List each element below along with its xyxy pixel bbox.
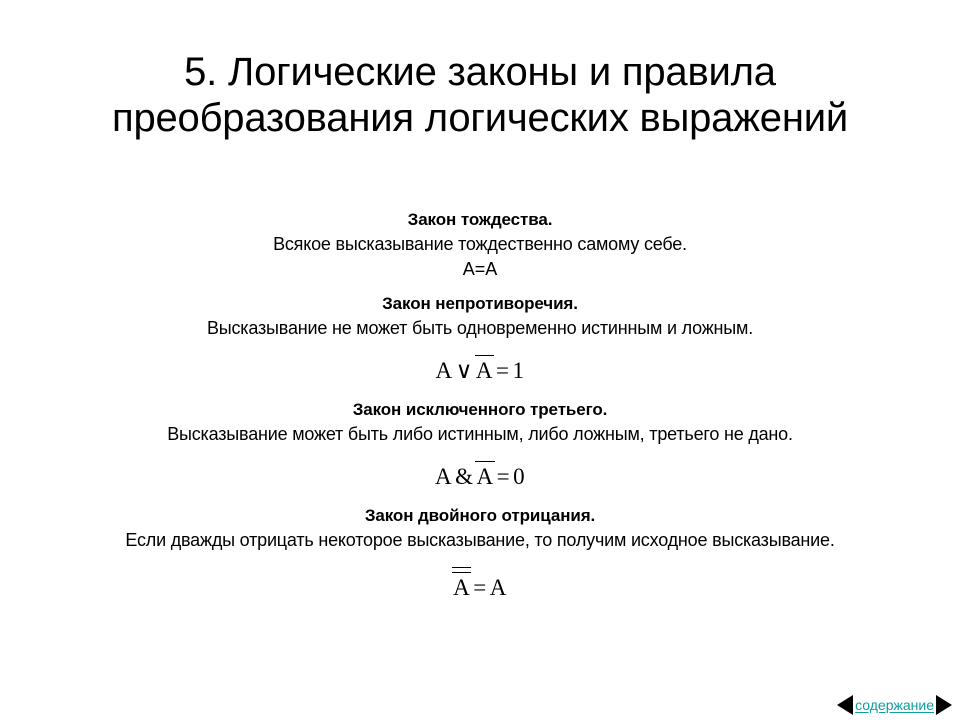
formula-equals: = bbox=[470, 575, 489, 600]
previous-slide-triangle-icon[interactable] bbox=[837, 695, 853, 715]
formula-equals: = bbox=[494, 464, 513, 489]
formula-left-operand: A bbox=[435, 358, 452, 383]
law-formula-identity: A=A bbox=[30, 257, 930, 282]
laws-list: Закон тождества. Всякое высказывание тож… bbox=[30, 208, 930, 615]
law-block-double-negation: Закон двойного отрицания. Если дважды от… bbox=[30, 504, 930, 603]
law-heading: Закон непротиворечия. bbox=[30, 292, 930, 316]
law-formula-excluded-middle: A&A=0 bbox=[30, 461, 930, 492]
formula-operator: & bbox=[452, 464, 476, 489]
formula-result: A bbox=[490, 575, 507, 600]
law-heading: Закон исключенного третьего. bbox=[30, 398, 930, 422]
formula-result: 0 bbox=[513, 464, 525, 489]
law-heading: Закон двойного отрицания. bbox=[30, 504, 930, 528]
page-title: 5. Логические законы и правила преобразо… bbox=[60, 49, 900, 141]
law-block-non-contradiction: Закон непротиворечия. Высказывание не мо… bbox=[30, 292, 930, 386]
contents-link[interactable]: содержание bbox=[853, 697, 936, 713]
law-formula-non-contradiction: A∨A=1 bbox=[30, 355, 930, 386]
formula-operator: ∨ bbox=[453, 358, 476, 383]
law-heading: Закон тождества. bbox=[30, 208, 930, 232]
law-block-excluded-middle: Закон исключенного третьего. Высказывани… bbox=[30, 398, 930, 492]
law-description: Высказывание может быть либо истинным, л… bbox=[30, 422, 930, 447]
law-block-identity: Закон тождества. Всякое высказывание тож… bbox=[30, 208, 930, 282]
next-slide-triangle-icon[interactable] bbox=[936, 695, 952, 715]
formula-right-operand-negated: A bbox=[476, 461, 493, 492]
law-description: Всякое высказывание тождественно самому … bbox=[30, 232, 930, 257]
formula-left-operand: A bbox=[435, 464, 452, 489]
law-description: Высказывание не может быть одновременно … bbox=[30, 316, 930, 341]
footer-navigation: содержание bbox=[837, 694, 952, 716]
slide: 5. Логические законы и правила преобразо… bbox=[0, 0, 960, 720]
law-description: Если дважды отрицать некоторое высказыва… bbox=[30, 528, 930, 553]
formula-right-operand-negated: A bbox=[476, 355, 493, 386]
law-formula-double-negation: A=A bbox=[30, 567, 930, 603]
formula-left-operand-double-negated: A bbox=[453, 567, 470, 603]
formula-result: 1 bbox=[513, 358, 525, 383]
formula-equals: = bbox=[493, 358, 512, 383]
